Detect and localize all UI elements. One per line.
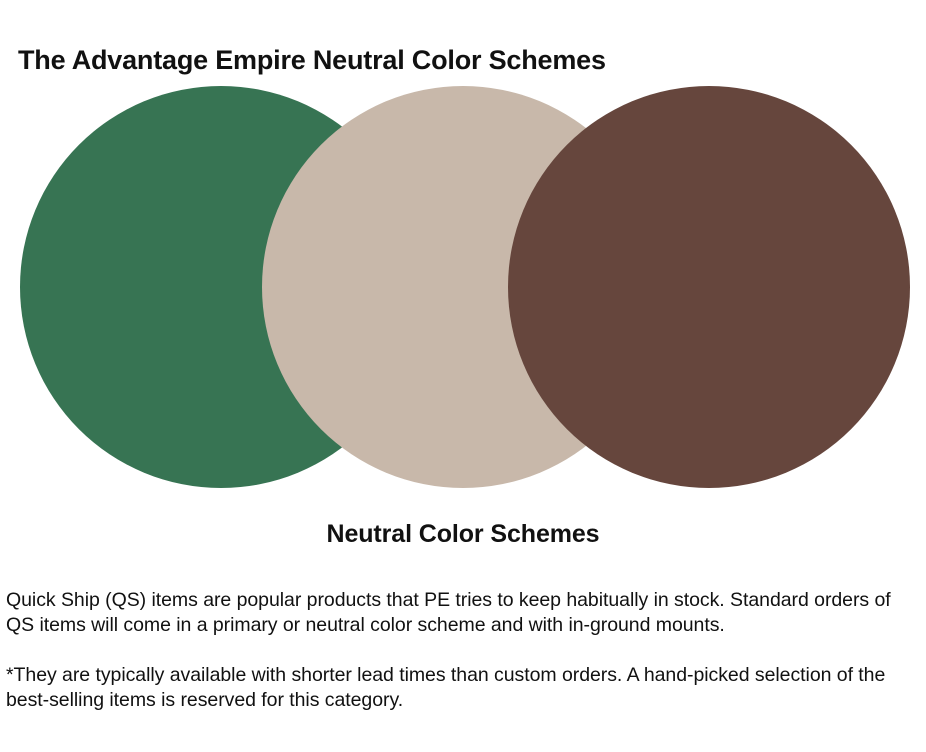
body-paragraph-1: Quick Ship (QS) items are popular produc… <box>6 588 912 638</box>
swatch-caption: Neutral Color Schemes <box>0 520 926 549</box>
color-swatch-brown <box>508 86 910 488</box>
body-paragraph-2: *They are typically available with short… <box>6 663 912 713</box>
page-title: The Advantage Empire Neutral Color Schem… <box>18 45 606 76</box>
body-copy: Quick Ship (QS) items are popular produc… <box>6 588 912 713</box>
document-page: The Advantage Empire Neutral Color Schem… <box>0 0 926 752</box>
color-swatch-group <box>0 86 926 490</box>
